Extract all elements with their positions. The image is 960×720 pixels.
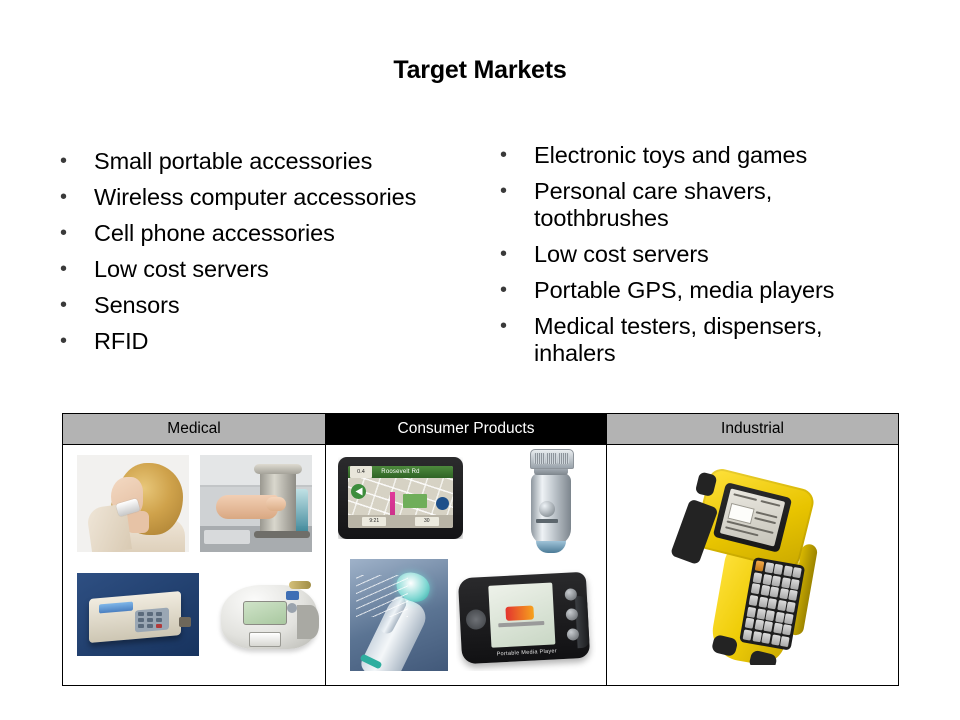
bullet-icon: • [58,328,94,354]
list-item: • Medical testers, dispensers, inhalers [498,313,898,367]
bullet-icon: • [498,277,534,303]
list-item-label: RFID [94,328,478,354]
market-segments-table: Medical Consumer Products Industrial [62,413,899,686]
white-medical-analyzer-photo [213,569,325,661]
gps-speed-button: 30 [415,517,439,526]
bullet-icon: • [498,241,534,267]
dpad-icon [466,609,487,630]
list-item: • Portable GPS, media players [498,277,898,304]
list-item-label: Cell phone accessories [94,220,478,246]
bullet-icon: • [498,313,534,339]
table-cell-consumer-products: Roosevelt Rd 0.4 9:21 30 [326,445,607,685]
bullet-icon: • [58,220,94,246]
list-item-label: Personal care shavers, toothbrushes [534,178,898,232]
bullet-list-left: • Small portable accessories • Wireless … [58,148,478,364]
list-item: • Electronic toys and games [498,142,898,169]
list-item: • Sensors [58,292,478,318]
table-header-consumer-products: Consumer Products [326,414,607,444]
list-item: • Low cost servers [58,256,478,282]
list-item: • Personal care shavers, toothbrushes [498,178,898,232]
list-item-label: Sensors [94,292,478,318]
list-item: • Small portable accessories [58,148,478,174]
gps-navigator-photo: Roosevelt Rd 0.4 9:21 30 [338,457,463,539]
list-item-label: Medical testers, dispensers, inhalers [534,313,898,367]
list-item: • Low cost servers [498,241,898,268]
list-item-label: Low cost servers [94,256,478,282]
portable-media-player-photo: Portable Media Player [456,563,596,671]
table-header-industrial: Industrial [607,414,898,444]
bullet-icon: • [58,256,94,282]
list-item: • RFID [58,328,478,354]
gps-distance-label: 0.4 [350,466,372,478]
bullet-icon: • [498,178,534,204]
table-cell-medical [63,445,326,685]
media-player-caption: Portable Media Player [484,648,570,658]
electric-toothbrush-photo [350,559,448,671]
hand-sanitizer-dispenser-photo [200,455,312,552]
bullet-icon: • [58,184,94,210]
bullet-list-right: • Electronic toys and games • Personal c… [498,142,898,376]
list-item-label: Electronic toys and games [534,142,898,169]
table-header-row: Medical Consumer Products Industrial [63,414,898,445]
table-body-row: Roosevelt Rd 0.4 9:21 30 [63,445,898,685]
table-cell-industrial [607,445,898,685]
list-item-label: Wireless computer accessories [94,184,478,210]
yellow-rugged-handheld-scanner-photo [653,465,853,665]
bullet-icon: • [498,142,534,168]
page-title: Target Markets [0,56,960,85]
bullet-icon: • [58,292,94,318]
list-item: • Wireless computer accessories [58,184,478,210]
list-item: • Cell phone accessories [58,220,478,246]
bullet-icon: • [58,148,94,174]
gps-direction-arrow-icon [351,484,366,499]
gps-compass-icon [436,497,449,510]
woman-using-inhaler-photo [77,455,189,552]
list-item-label: Low cost servers [534,241,898,268]
list-item-label: Portable GPS, media players [534,277,898,304]
gps-eta-button: 9:21 [362,517,386,526]
blue-background-medical-tester-photo [77,573,199,656]
table-header-medical: Medical [63,414,326,444]
list-item-label: Small portable accessories [94,148,478,174]
electric-shaver-photo [518,449,584,555]
